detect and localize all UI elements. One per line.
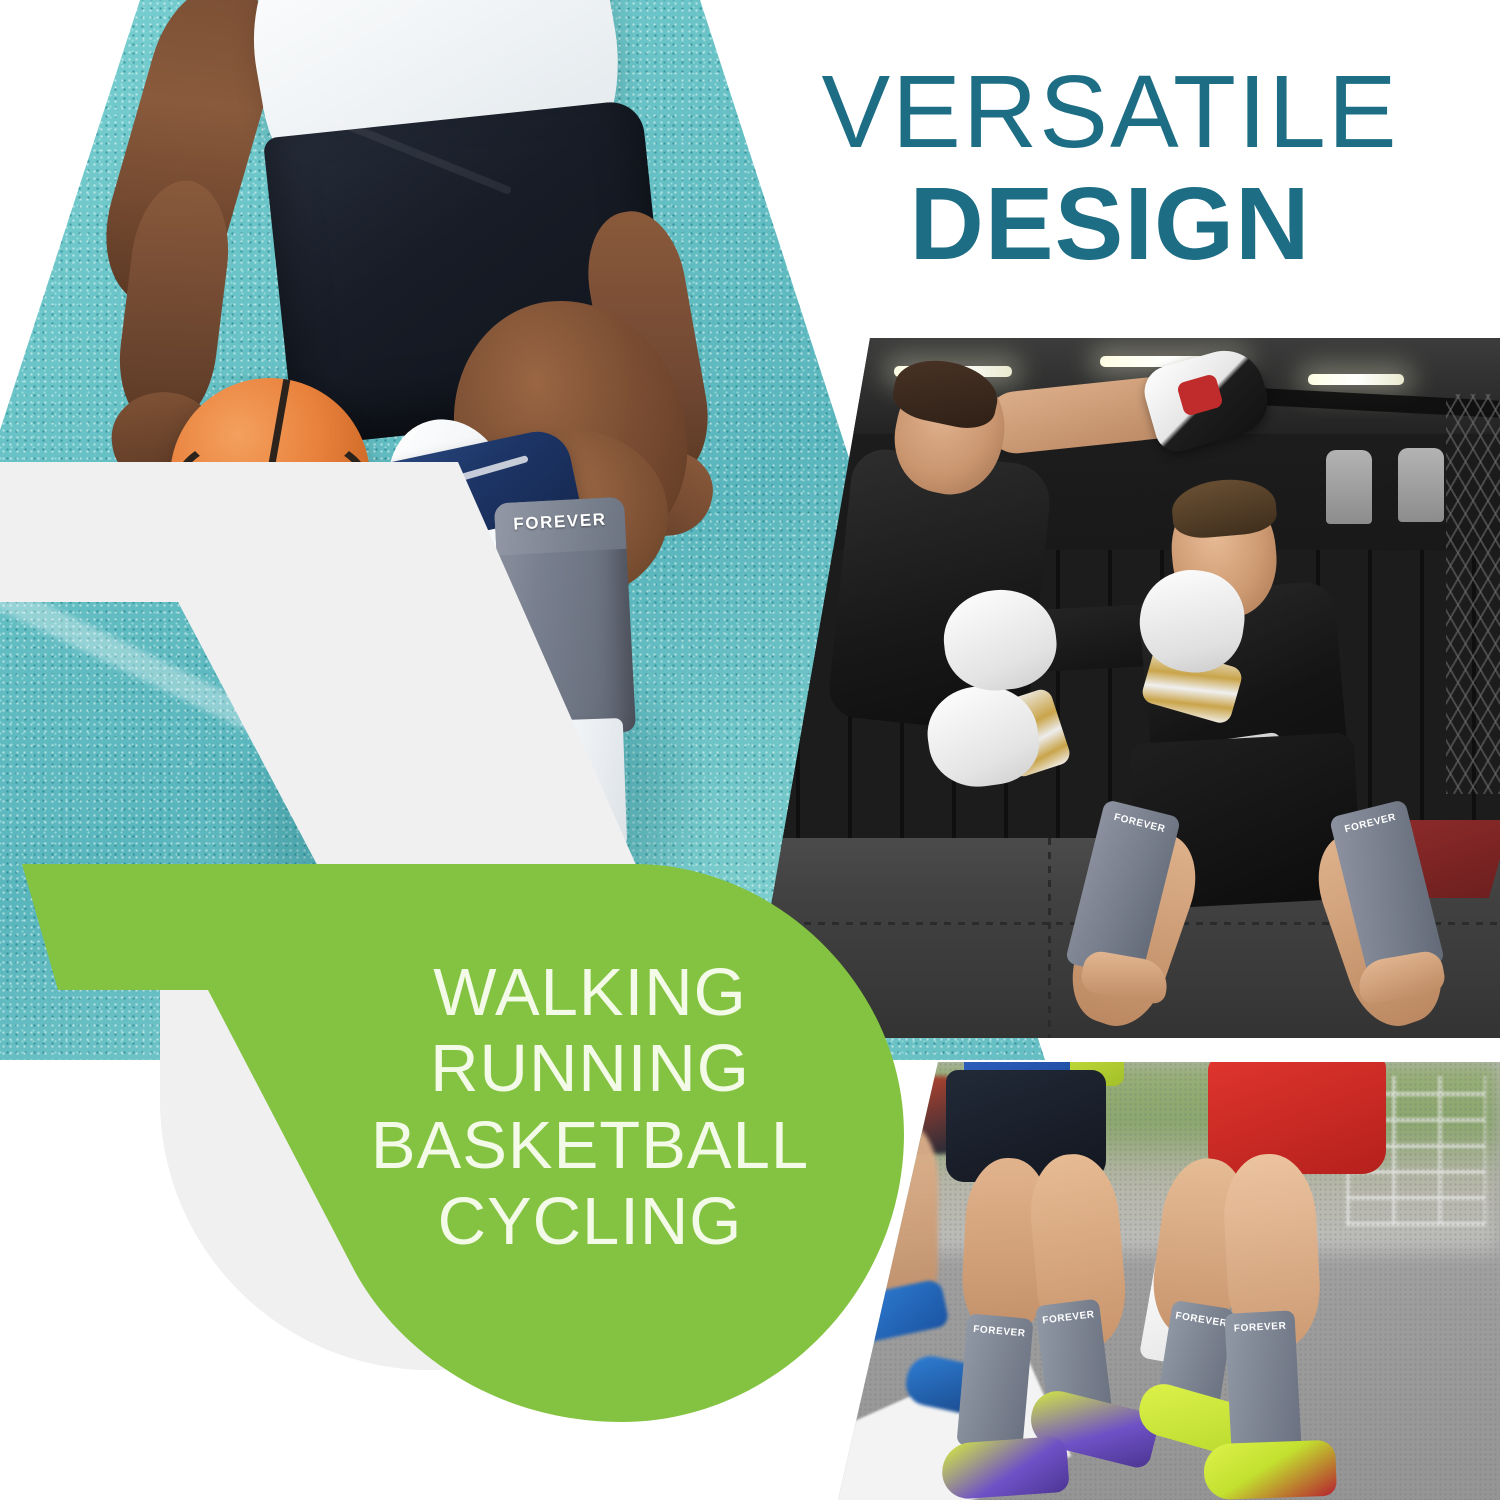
activity-line-4: CYCLING (300, 1184, 880, 1260)
activity-callout-text: WALKING RUNNING BASKETBALL CYCLING (300, 955, 880, 1261)
runner-2-calf-sleeve-front: FOREVER (1224, 1310, 1301, 1453)
runner-2-shorts (1208, 1062, 1386, 1174)
mat-seam-vertical (1048, 838, 1051, 1038)
cage-mesh (1446, 394, 1500, 794)
ceiling-light-3 (1308, 374, 1404, 385)
runner-1-calf-sleeve-front: FOREVER (956, 1313, 1033, 1450)
headline-line-1: VERSATILE (770, 58, 1450, 166)
runner-1-sleeve-logo-rear: FOREVER (1036, 1308, 1101, 1327)
background-figure-1 (1326, 450, 1372, 524)
activity-line-2: RUNNING (300, 1031, 880, 1107)
page-title: VERSATILE DESIGN (770, 58, 1450, 282)
runner-1-shoe-front (940, 1436, 1070, 1500)
runner-2-sleeve-logo-front: FOREVER (1225, 1320, 1295, 1335)
runner-2-sleeve-logo-rear: FOREVER (1170, 1310, 1233, 1331)
activity-line-3: BASKETBALL (300, 1108, 880, 1184)
headline-line-2: DESIGN (770, 166, 1450, 281)
runner-2-shoe-front (1203, 1440, 1337, 1500)
runner-1-sleeve-logo-front: FOREVER (966, 1323, 1033, 1340)
background-figure-2 (1398, 448, 1444, 522)
runners-panel: FOREVER FOREVER FOREVER FOREVER (838, 1062, 1500, 1500)
right-sleeve-brand-logo: FOREVER (1331, 809, 1409, 839)
marketing-banner: FOREVER (0, 0, 1500, 1500)
activity-line-1: WALKING (300, 955, 880, 1031)
